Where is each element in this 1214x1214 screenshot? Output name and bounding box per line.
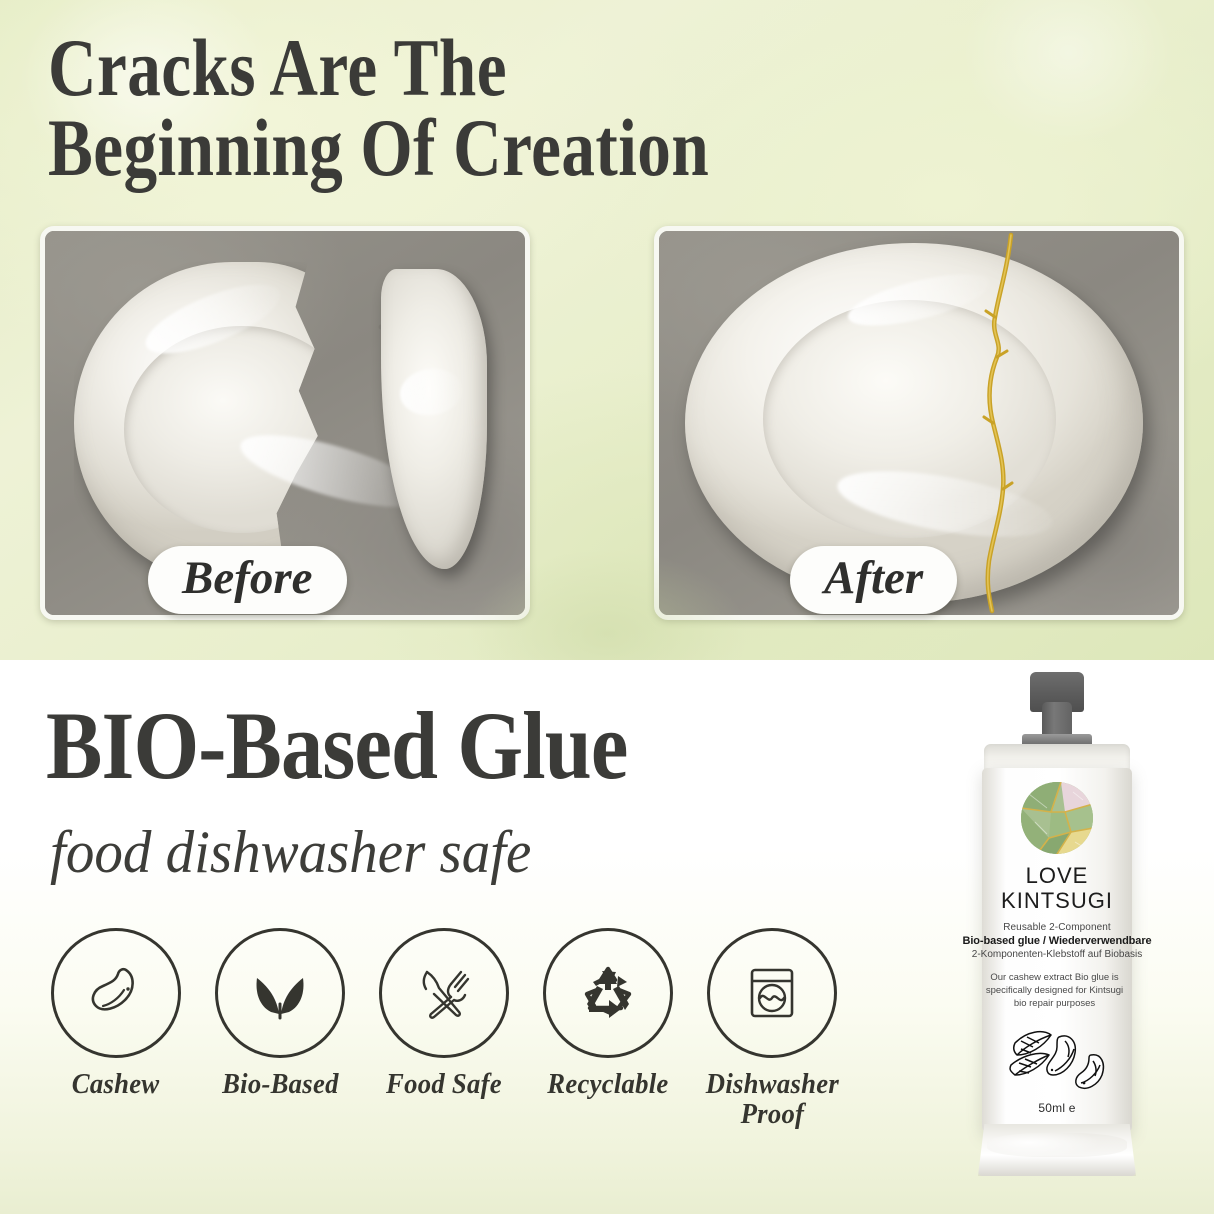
product-tube: LOVE KINTSUGI Reusable 2-Component Bio-b… bbox=[956, 672, 1156, 1188]
reusable-text: Reusable 2-Component bbox=[1003, 922, 1111, 933]
feature-label: Recyclable bbox=[547, 1070, 668, 1100]
feature-dishwasher-proof: Dishwasher Proof bbox=[690, 928, 854, 1129]
dishwasher-icon bbox=[707, 928, 837, 1058]
product-subtitle: food dishwasher safe bbox=[50, 822, 531, 882]
brand-line-1: LOVE bbox=[1026, 863, 1089, 888]
top-panel: Cracks Are The Beginning Of Creation bbox=[0, 0, 1214, 660]
german-subline: 2-Komponenten-Klebstoff auf Biobasis bbox=[972, 949, 1142, 960]
brand-name: LOVE KINTSUGI bbox=[1001, 864, 1113, 913]
feature-label: Food Safe bbox=[386, 1070, 502, 1100]
feature-label: Bio-Based bbox=[222, 1070, 339, 1100]
before-label: Before bbox=[148, 546, 347, 614]
recycle-icon bbox=[543, 928, 673, 1058]
cashew-nuts-and-leaves-illustration bbox=[1005, 1021, 1109, 1097]
page-title: Cracks Are The Beginning Of Creation bbox=[48, 28, 868, 189]
cashew-nut-icon bbox=[51, 928, 181, 1058]
product-marketing-poster: Cracks Are The Beginning Of Creation bbox=[0, 0, 1214, 1214]
feature-bio-based: Bio-Based bbox=[198, 928, 362, 1100]
leaf-sprout-icon bbox=[215, 928, 345, 1058]
brand-line-2: KINTSUGI bbox=[1001, 888, 1113, 913]
volume-text: 50ml e bbox=[1038, 1101, 1075, 1115]
product-title: BIO-Based Glue bbox=[46, 698, 627, 794]
bio-based-line: Bio-based glue / Wiederverwendbare bbox=[962, 935, 1151, 947]
kintsugi-leaf-circle-logo bbox=[1021, 782, 1093, 854]
product-description: Our cashew extract Bio glue is specifica… bbox=[979, 971, 1131, 1010]
feature-label: Cashew bbox=[72, 1070, 160, 1100]
after-label: After bbox=[790, 546, 957, 614]
fork-knife-icon bbox=[379, 928, 509, 1058]
tube-base bbox=[978, 1124, 1136, 1176]
feature-recyclable: Recyclable bbox=[526, 928, 690, 1100]
feature-label: Dishwasher Proof bbox=[705, 1070, 838, 1129]
feature-badges: Cashew Bio-Based bbox=[34, 928, 854, 1129]
product-label: LOVE KINTSUGI Reusable 2-Component Bio-b… bbox=[986, 776, 1128, 1115]
feature-cashew: Cashew bbox=[34, 928, 198, 1100]
feature-food-safe: Food Safe bbox=[362, 928, 526, 1100]
